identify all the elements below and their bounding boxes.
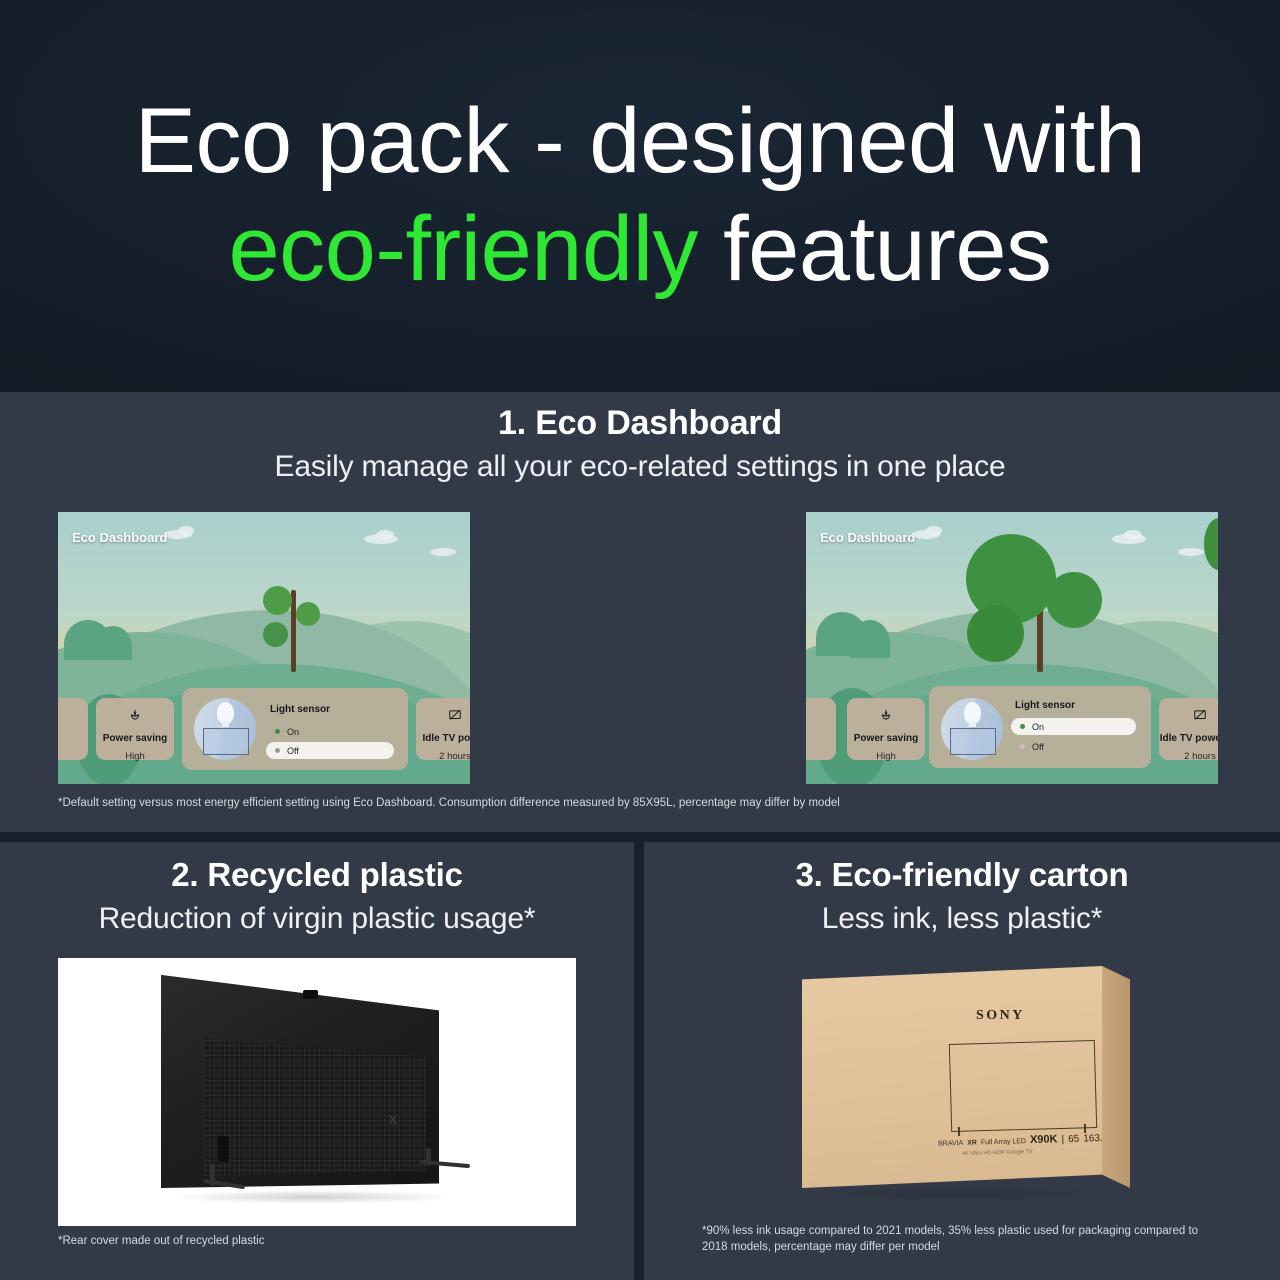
tv-screenshot-eco-settings: Eco Dashboard Power saving High bbox=[806, 512, 1218, 784]
hero-headline-line1: Eco pack - designed with bbox=[135, 95, 1146, 189]
tile-partial-left bbox=[58, 698, 88, 760]
light-bulb-illustration bbox=[941, 698, 1003, 760]
section2-title: 2. Recycled plastic bbox=[0, 856, 634, 894]
section-eco-friendly-carton: 3. Eco-friendly carton Less ink, less pl… bbox=[644, 842, 1280, 1280]
light-sensor-option-off[interactable]: Off bbox=[266, 742, 394, 759]
light-bulb-illustration bbox=[194, 698, 256, 760]
tile-power-saving-value: High bbox=[847, 751, 925, 762]
bulb-neck-icon bbox=[969, 721, 976, 727]
screen-off-icon bbox=[1159, 708, 1218, 725]
carton-spec-line: BRAVIA XR Full Array LED X90K | 65 163.9… bbox=[938, 1131, 1125, 1148]
light-sensor-option-on-label: On bbox=[287, 727, 299, 737]
light-sensor-option-on-label: On bbox=[1032, 722, 1044, 732]
carton-illustration: SONY BRAVIA XR Full Array LED X90K | 65 … bbox=[690, 954, 1230, 1216]
light-sensor-panel: Light sensor On Off bbox=[929, 686, 1151, 768]
bulb-screen-rect bbox=[950, 728, 996, 755]
tv-rear-port bbox=[218, 1135, 229, 1162]
screen-off-icon bbox=[416, 708, 470, 725]
hero-headline-emphasis: eco-friendly bbox=[228, 198, 698, 300]
light-sensor-option-on[interactable]: On bbox=[1011, 718, 1136, 735]
light-sensor-option-on[interactable]: On bbox=[266, 723, 376, 740]
eco-pack-infographic: Eco pack - designed with eco-friendly fe… bbox=[0, 0, 1280, 1280]
section-recycled-plastic: 2. Recycled plastic Reduction of virgin … bbox=[0, 842, 634, 1280]
section-eco-dashboard: 1. Eco Dashboard Easily manage all your … bbox=[0, 392, 1280, 832]
tile-power-saving-label: Power saving bbox=[96, 733, 174, 744]
bush-shape bbox=[850, 620, 890, 658]
carton-spec-separator: | bbox=[1061, 1134, 1064, 1145]
cloud-icon bbox=[1178, 548, 1204, 556]
carton-spec-tech: Full Array LED bbox=[981, 1138, 1026, 1146]
tile-idle-tv-power[interactable]: Idle TV power 2 hours bbox=[416, 698, 470, 760]
light-sensor-option-off-label: Off bbox=[287, 746, 299, 756]
carton-spec-model: X90K bbox=[1030, 1133, 1058, 1146]
carton-spec-xr: XR bbox=[967, 1140, 977, 1147]
tv-rear-photo: X bbox=[58, 958, 576, 1226]
tree-foliage-small bbox=[296, 602, 320, 626]
hero-headline-line2: eco-friendly features bbox=[228, 203, 1051, 297]
tv-rear-connector bbox=[303, 990, 318, 999]
tree-foliage-large bbox=[1046, 572, 1102, 628]
section2-footnote: *Rear cover made out of recycled plastic bbox=[58, 1234, 264, 1250]
vertical-divider bbox=[634, 842, 644, 1280]
section1-title: 1. Eco Dashboard bbox=[0, 404, 1280, 443]
tree-foliage-small bbox=[263, 622, 288, 647]
radio-dot-icon bbox=[275, 729, 280, 734]
cloud-icon bbox=[376, 530, 394, 540]
section3-subtitle: Less ink, less plastic* bbox=[644, 902, 1280, 936]
light-sensor-option-off[interactable]: Off bbox=[1011, 738, 1121, 755]
hero-banner: Eco pack - designed with eco-friendly fe… bbox=[0, 0, 1280, 392]
carton-tv-foot-left bbox=[958, 1127, 960, 1136]
light-sensor-title: Light sensor bbox=[270, 704, 330, 715]
sony-logo: SONY bbox=[976, 1008, 1025, 1024]
bulb-screen-rect bbox=[203, 728, 249, 755]
carton-spec-size: 65 bbox=[1068, 1134, 1079, 1145]
tile-idle-tv-power-label: Idle TV power bbox=[416, 733, 470, 744]
tile-idle-tv-power[interactable]: Idle TV power off 2 hours bbox=[1159, 698, 1218, 760]
tile-power-saving-label: Power saving bbox=[847, 733, 925, 744]
tv-screenshot-default-settings: Eco Dashboard Power saving High bbox=[58, 512, 470, 784]
horizontal-divider bbox=[0, 832, 1280, 842]
carton-front-panel: SONY BRAVIA XR Full Array LED X90K | 65 … bbox=[802, 966, 1102, 1188]
tile-power-saving[interactable]: Power saving High bbox=[96, 698, 174, 760]
carton-spec-bravia: BRAVIA bbox=[938, 1140, 963, 1148]
light-sensor-option-off-label: Off bbox=[1032, 742, 1044, 752]
carton-spec-subline: 4K Ultra HD HDR Google TV bbox=[962, 1149, 1033, 1157]
section2-subtitle: Reduction of virgin plastic usage* bbox=[0, 902, 634, 936]
leaf-bolt-icon bbox=[847, 708, 925, 725]
bush-shape bbox=[94, 626, 132, 660]
cloud-icon bbox=[178, 526, 194, 536]
hero-headline-rest: features bbox=[698, 198, 1051, 300]
bulb-neck-icon bbox=[222, 721, 229, 727]
radio-dot-icon bbox=[1020, 724, 1025, 729]
tv-eco-dashboard-label: Eco Dashboard bbox=[72, 530, 167, 545]
carton-side-panel bbox=[1102, 966, 1130, 1188]
tile-idle-tv-power-label: Idle TV power off bbox=[1159, 733, 1218, 744]
tree-foliage-small bbox=[263, 586, 292, 615]
cloud-icon bbox=[1124, 530, 1142, 540]
carton-qr-code-icon bbox=[1172, 1166, 1181, 1175]
tile-power-saving[interactable]: Power saving High bbox=[847, 698, 925, 760]
tile-idle-tv-power-value: 2 hours bbox=[1159, 751, 1218, 762]
carton-tv-outline bbox=[949, 1040, 1097, 1132]
section1-subtitle: Easily manage all your eco-related setti… bbox=[0, 450, 1280, 484]
light-sensor-title: Light sensor bbox=[1015, 700, 1075, 711]
radio-dot-icon bbox=[275, 748, 280, 753]
section1-footnote: *Default setting versus most energy effi… bbox=[58, 796, 840, 812]
section3-footnote: *90% less ink usage compared to 2021 mod… bbox=[702, 1224, 1218, 1255]
cloud-icon bbox=[430, 548, 456, 556]
carton-drop-shadow bbox=[800, 1186, 1120, 1202]
tile-partial-left bbox=[806, 698, 836, 760]
light-sensor-panel: Light sensor On Off bbox=[182, 688, 408, 770]
tv-drop-shadow bbox=[168, 1190, 458, 1204]
tree-foliage-large bbox=[967, 605, 1024, 662]
tile-idle-tv-power-value: 2 hours bbox=[416, 751, 470, 762]
leaf-bolt-icon bbox=[96, 708, 174, 725]
section3-title: 3. Eco-friendly carton bbox=[644, 856, 1280, 894]
tile-power-saving-value: High bbox=[96, 751, 174, 762]
tv-eco-dashboard-label: Eco Dashboard bbox=[820, 530, 915, 545]
radio-dot-icon bbox=[1020, 744, 1025, 749]
tv-stand-leg-left-post bbox=[210, 1164, 215, 1186]
tv-rear-x-logo: X bbox=[389, 1113, 397, 1127]
cloud-icon bbox=[926, 526, 942, 536]
tv-stand-leg-right-post bbox=[426, 1148, 431, 1166]
tv-rear-mesh-texture bbox=[204, 1036, 426, 1176]
